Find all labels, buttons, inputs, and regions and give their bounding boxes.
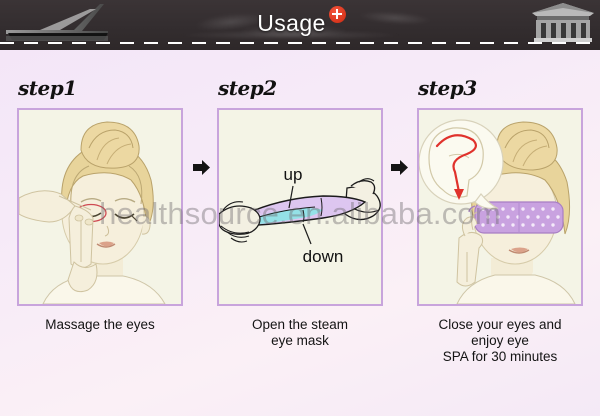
usage-infographic: Usage healthsource.en.alibaba.com step1 <box>0 0 600 416</box>
plus-badge-icon <box>329 6 346 23</box>
page-title: Usage <box>257 10 325 37</box>
step-1-panel <box>17 108 183 306</box>
step-2-label: step2 <box>218 76 277 100</box>
woman-massaging-eyes-illustration <box>19 110 181 304</box>
step-2: step2 <box>200 50 400 416</box>
step-1-caption-line-1: Massage the eyes <box>10 317 190 333</box>
mask-up-label: up <box>284 165 303 184</box>
arrow-step1-to-step2 <box>193 160 210 175</box>
step-3-caption-line-3: SPA for 30 minutes <box>410 349 590 365</box>
step-2-caption-line-2: eye mask <box>210 333 390 349</box>
step-3: step3 <box>400 50 600 416</box>
step-2-caption-line-1: Open the steam <box>210 317 390 333</box>
step-3-caption: Close your eyes and enjoy eye SPA for 30… <box>410 317 590 365</box>
step-1: step1 <box>0 50 200 416</box>
step-2-caption: Open the steam eye mask <box>210 317 390 349</box>
header-banner: Usage <box>0 0 600 50</box>
step-3-label: step3 <box>418 76 477 100</box>
steps-row: step1 <box>0 50 600 416</box>
header-dashed-divider <box>0 42 600 44</box>
step-3-panel <box>417 108 583 306</box>
step-1-label: step1 <box>18 76 77 100</box>
arrow-step2-to-step3 <box>391 160 408 175</box>
mask-down-label: down <box>303 247 344 266</box>
step-1-caption: Massage the eyes <box>10 317 190 333</box>
step-3-caption-line-2: enjoy eye <box>410 333 590 349</box>
woman-wearing-eye-mask-illustration <box>419 110 581 304</box>
step-3-caption-line-1: Close your eyes and <box>410 317 590 333</box>
step-2-panel: up down <box>217 108 383 306</box>
hands-opening-eye-mask-illustration: up down <box>219 110 381 304</box>
